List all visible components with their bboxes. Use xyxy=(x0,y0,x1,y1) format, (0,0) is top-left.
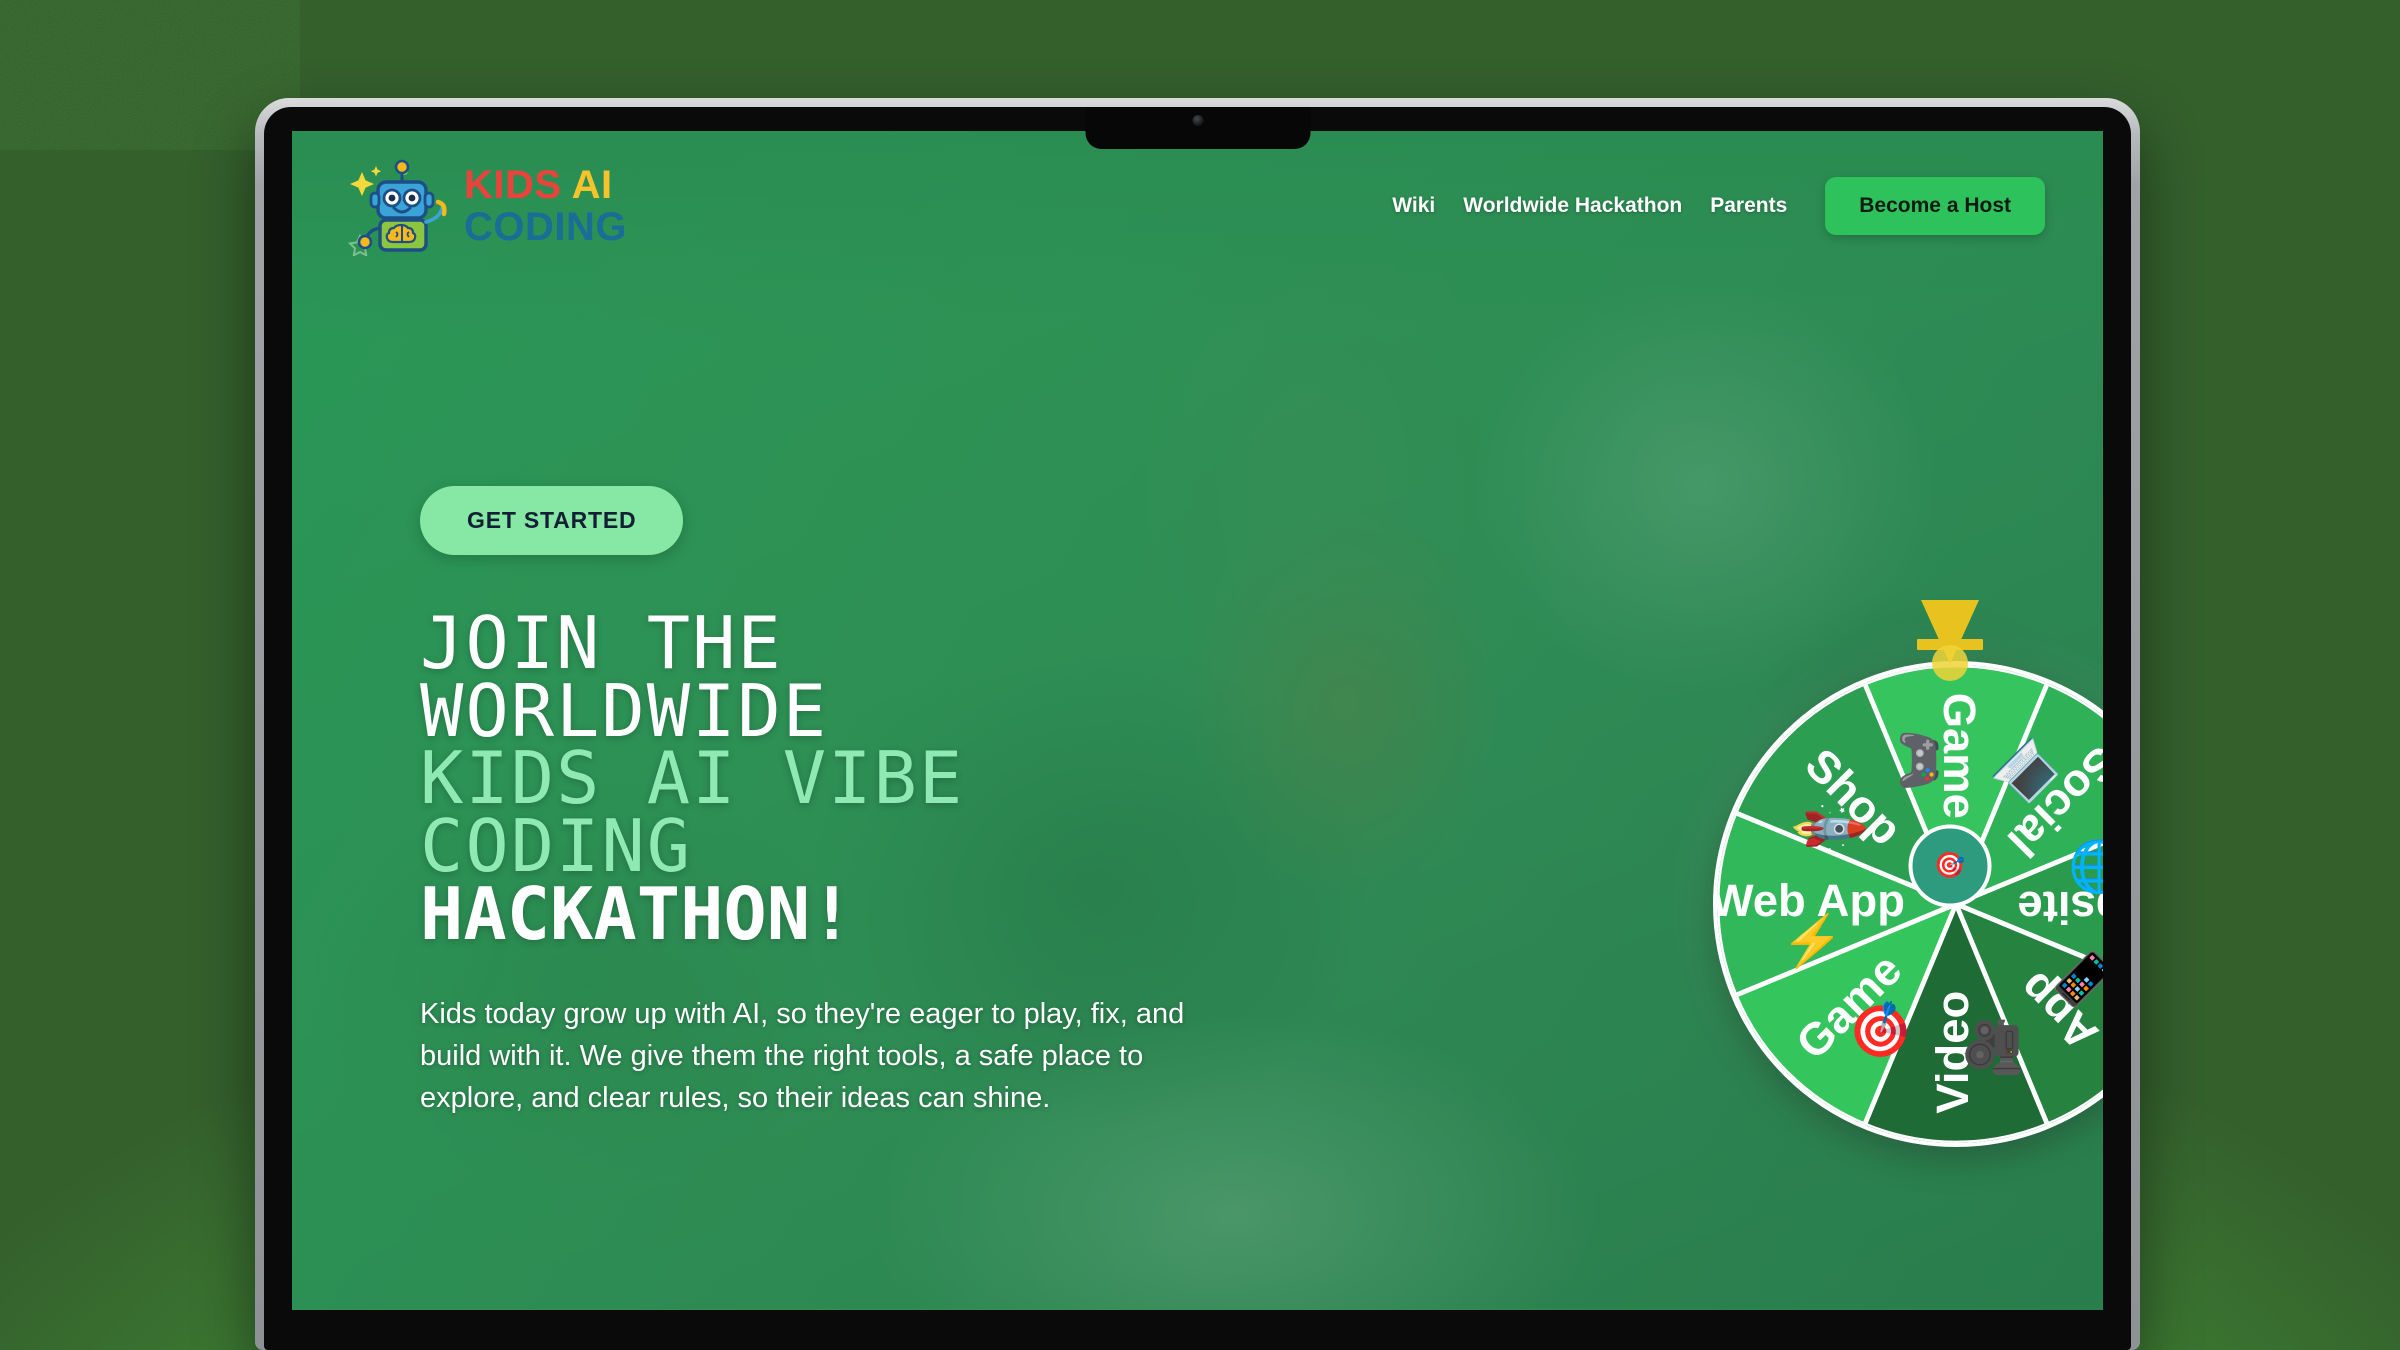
wheel-segment-emoji-icon: 🎮 xyxy=(1891,729,1947,792)
laptop-mockup: KIDSAI CODING Wiki Worldwide Hackathon P… xyxy=(255,98,2140,1350)
wheel-segment-emoji-icon: ⚡ xyxy=(1781,912,1844,971)
nav-link-wiki[interactable]: Wiki xyxy=(1392,194,1435,218)
laptop-notch xyxy=(1085,107,1310,149)
brand-coding-text: CODING xyxy=(464,209,627,246)
page-title: JOIN THE WORLDWIDE KIDS AI VIBE CODING H… xyxy=(420,610,1340,948)
brand-wordmark: KIDSAI CODING xyxy=(464,167,627,246)
target-icon: 🎯 xyxy=(1934,852,1965,881)
robot-mascot-icon xyxy=(346,156,458,256)
wheel-segment-emoji-icon: 🌐 xyxy=(2068,839,2103,896)
brand-kids-text: KIDS xyxy=(464,163,562,207)
hero-content: GET STARTED JOIN THE WORLDWIDE KIDS AI V… xyxy=(420,486,1340,1120)
wheel-pointer-knob xyxy=(1932,645,1968,681)
site-header: KIDSAI CODING Wiki Worldwide Hackathon P… xyxy=(292,131,2103,281)
wheel-hub[interactable]: 🎯 xyxy=(1909,825,1992,908)
brand-logo[interactable]: KIDSAI CODING xyxy=(346,156,627,256)
brand-ai-text: AI xyxy=(572,163,613,207)
webcam-icon xyxy=(1192,115,1203,126)
primary-navigation: Wiki Worldwide Hackathon Parents Become … xyxy=(1392,177,2045,235)
headline-line-2: WORLDWIDE xyxy=(420,678,1340,746)
nav-link-parents[interactable]: Parents xyxy=(1710,194,1787,218)
spin-wheel[interactable]: Game🎮Social💻Website🌐App📱Video🎥Game🎯Web A… xyxy=(1680,586,2103,1146)
hero-description: Kids today grow up with AI, so they're e… xyxy=(420,994,1220,1119)
become-a-host-button[interactable]: Become a Host xyxy=(1825,177,2045,235)
headline-line-1: JOIN THE xyxy=(420,610,1340,678)
headline-line-4: CODING xyxy=(420,813,1340,881)
page-backdrop: KIDSAI CODING Wiki Worldwide Hackathon P… xyxy=(0,0,2400,1350)
nav-link-worldwide-hackathon[interactable]: Worldwide Hackathon xyxy=(1463,194,1682,218)
wheel-segment-emoji-icon: 🎥 xyxy=(1964,1016,2021,1078)
headline-line-3: KIDS AI VIBE xyxy=(420,745,1340,813)
laptop-screen: KIDSAI CODING Wiki Worldwide Hackathon P… xyxy=(292,131,2103,1310)
headline-line-5: HACKATHON! xyxy=(420,881,1340,949)
get-started-button[interactable]: GET STARTED xyxy=(420,486,683,555)
